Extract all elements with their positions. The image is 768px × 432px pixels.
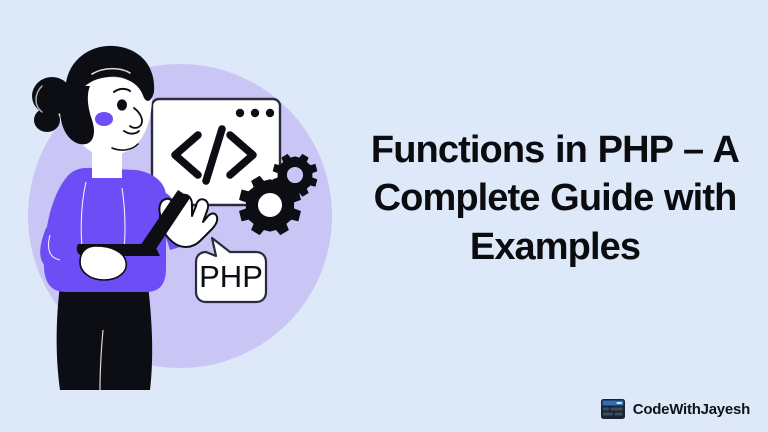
php-badge-label: PHP [199,259,263,294]
title-block: Functions in PHP – A Complete Guide with… [352,126,758,271]
window-dot-2 [251,109,259,117]
code-window-icon [600,398,626,420]
blog-banner: PHP Functions in PHP – A Complete Guide … [0,0,768,432]
character-skirt [57,285,153,390]
character-hair-bun-lower [34,108,60,132]
icon-title-bar-text [616,402,622,404]
icon-code-line-1 [603,408,609,411]
character-eye [117,99,127,110]
window-dot-1 [236,109,244,117]
page-title: Functions in PHP – A Complete Guide with… [352,126,758,271]
character-cheek [95,112,113,126]
brand-name-label: CodeWithJayesh [633,401,750,418]
illustration-canvas: PHP [0,0,350,432]
icon-code-line-2 [610,408,622,411]
icon-code-line-3 [603,413,613,416]
window-dot-3 [266,109,274,117]
brand-logo[interactable]: CodeWithJayesh [600,398,750,420]
hero-illustration: PHP [0,0,350,432]
icon-code-line-4 [614,413,622,416]
